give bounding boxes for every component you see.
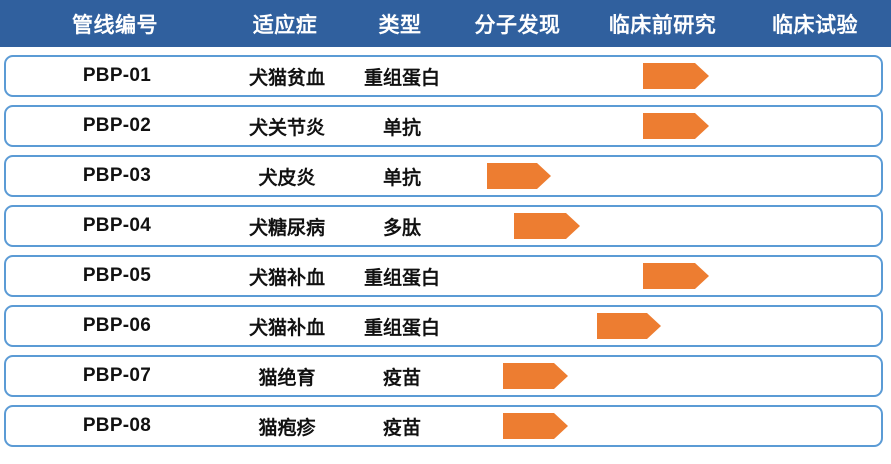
table-row[interactable]: PBP-03犬皮炎单抗 — [4, 155, 883, 197]
table-row[interactable]: PBP-08猫疱疹疫苗 — [4, 405, 883, 447]
cell-pipeline-no: PBP-02 — [22, 107, 212, 145]
column-header-stage-preclinical: 临床前研究 — [580, 0, 745, 47]
cell-type: 疫苗 — [332, 407, 472, 445]
cell-type: 单抗 — [332, 107, 472, 145]
progress-arrow — [643, 263, 709, 289]
cell-pipeline-no: PBP-08 — [22, 407, 212, 445]
column-header-stage-clinical: 临床试验 — [745, 0, 885, 47]
progress-arrow — [597, 313, 661, 339]
progress-arrow — [487, 163, 551, 189]
table-row[interactable]: PBP-05犬猫补血重组蛋白 — [4, 255, 883, 297]
progress-arrow — [643, 63, 709, 89]
table-row[interactable]: PBP-07猫绝育疫苗 — [4, 355, 883, 397]
cell-type: 重组蛋白 — [332, 307, 472, 345]
column-header-type: 类型 — [330, 0, 470, 47]
cell-pipeline-no: PBP-04 — [22, 207, 212, 245]
cell-type: 多肽 — [332, 207, 472, 245]
cell-pipeline-no: PBP-03 — [22, 157, 212, 195]
cell-type: 重组蛋白 — [332, 257, 472, 295]
pipeline-chart: 管线编号适应症类型分子发现临床前研究临床试验 PBP-01犬猫贫血重组蛋白PBP… — [0, 0, 891, 464]
column-header-stage-discovery: 分子发现 — [455, 0, 580, 47]
cell-type: 重组蛋白 — [332, 57, 472, 95]
cell-type: 单抗 — [332, 157, 472, 195]
cell-pipeline-no: PBP-05 — [22, 257, 212, 295]
cell-type: 疫苗 — [332, 357, 472, 395]
progress-arrow — [503, 413, 568, 439]
progress-arrow — [514, 213, 580, 239]
cell-pipeline-no: PBP-07 — [22, 357, 212, 395]
table-row[interactable]: PBP-04犬糖尿病多肽 — [4, 205, 883, 247]
table-row[interactable]: PBP-02犬关节炎单抗 — [4, 105, 883, 147]
table-row[interactable]: PBP-06犬猫补血重组蛋白 — [4, 305, 883, 347]
cell-pipeline-no: PBP-06 — [22, 307, 212, 345]
progress-arrow — [503, 363, 568, 389]
progress-arrow — [643, 113, 709, 139]
cell-pipeline-no: PBP-01 — [22, 57, 212, 95]
table-row[interactable]: PBP-01犬猫贫血重组蛋白 — [4, 55, 883, 97]
column-header-pipeline-no: 管线编号 — [20, 0, 210, 47]
